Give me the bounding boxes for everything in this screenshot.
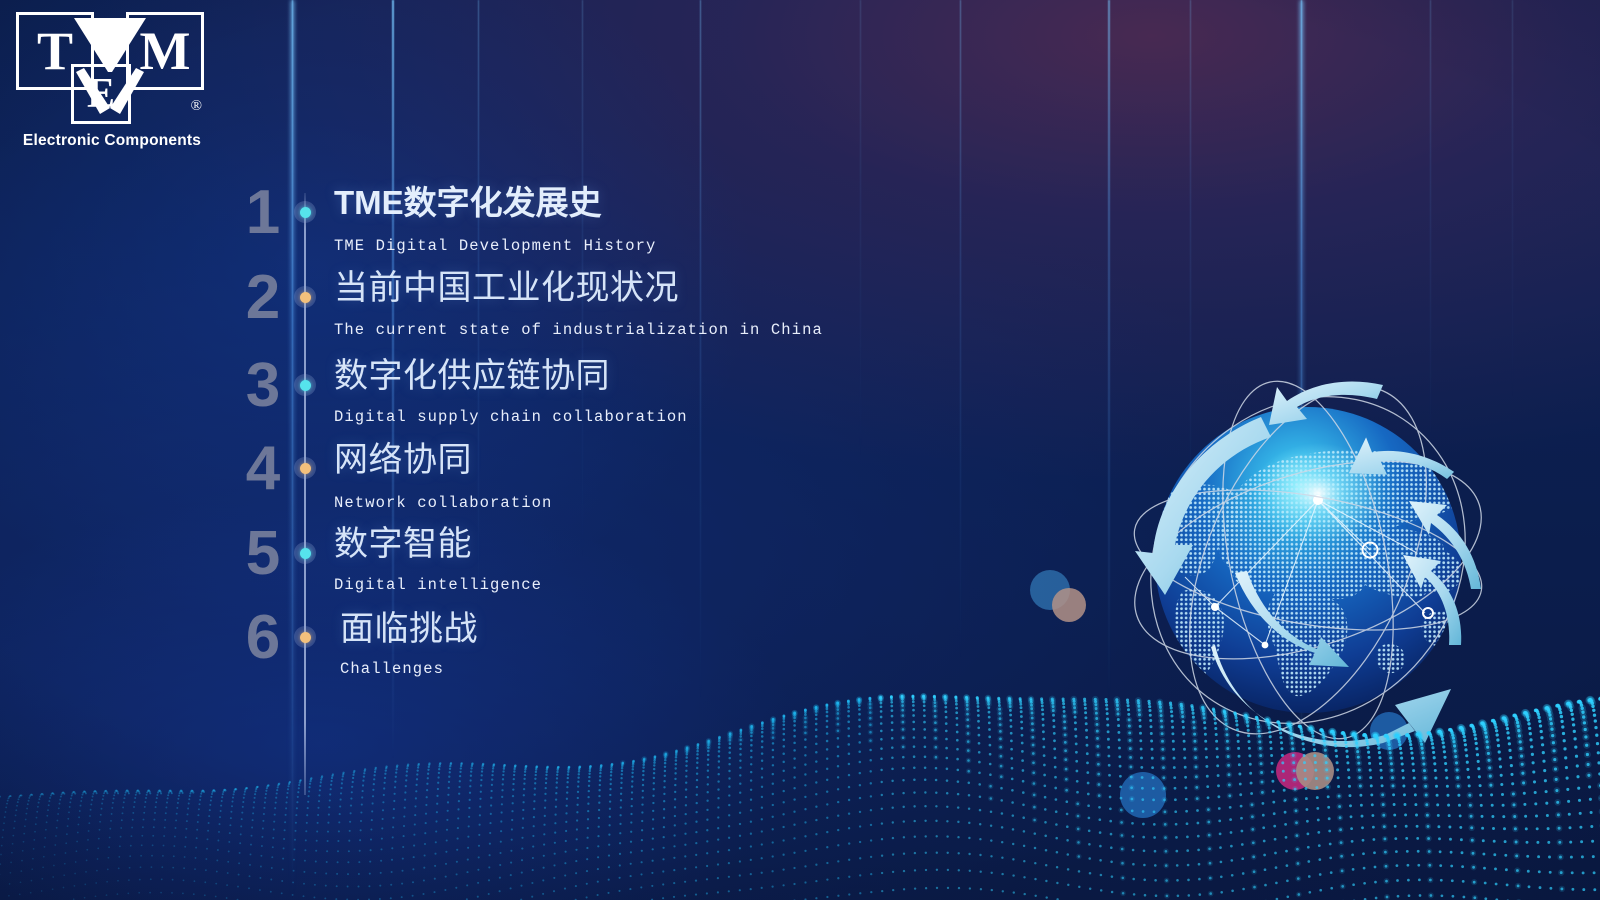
agenda-number-6: 6 [232,607,294,669]
agenda-bullet-5[interactable] [294,542,316,564]
agenda-title-cn-2[interactable]: 当前中国工业化现状况 [334,271,679,305]
bullet-dot-icon [300,380,311,391]
bullet-dot-icon [300,207,311,218]
timeline-spine [304,193,306,795]
agenda-title-cn-3[interactable]: 数字化供应链协同 [334,359,610,393]
agenda-bullet-6[interactable] [294,626,316,648]
agenda-bullet-1[interactable] [294,201,316,223]
agenda-title-cn-1[interactable]: TME数字化发展史 [334,186,602,219]
bullet-dot-icon [300,548,311,559]
agenda-subtitle-en-2: The current state of industrialization i… [334,321,823,339]
agenda-bullet-4[interactable] [294,457,316,479]
agenda-title-cn-6[interactable]: 面临挑战 [340,612,478,646]
bullet-dot-icon [300,463,311,474]
agenda-number-4: 4 [232,438,294,500]
agenda-number-3: 3 [232,355,294,417]
presentation-slide: T M E ® Electronic Components 1TME数字化发展史… [0,0,1600,900]
bullet-dot-icon [300,632,311,643]
agenda-title-cn-4[interactable]: 网络协同 [334,443,472,477]
agenda-number-5: 5 [232,523,294,585]
agenda-number-2: 2 [232,267,294,329]
agenda-bullet-3[interactable] [294,374,316,396]
agenda-subtitle-en-6: Challenges [340,660,444,678]
agenda-bullet-2[interactable] [294,286,316,308]
agenda-subtitle-en-3: Digital supply chain collaboration [334,408,688,426]
agenda-list: 1TME数字化发展史TME Digital Development Histor… [0,0,900,900]
bullet-dot-icon [300,292,311,303]
agenda-subtitle-en-1: TME Digital Development History [334,237,656,255]
agenda-subtitle-en-5: Digital intelligence [334,576,542,594]
agenda-number-1: 1 [232,182,294,244]
agenda-subtitle-en-4: Network collaboration [334,494,552,512]
agenda-title-cn-5[interactable]: 数字智能 [334,527,472,561]
